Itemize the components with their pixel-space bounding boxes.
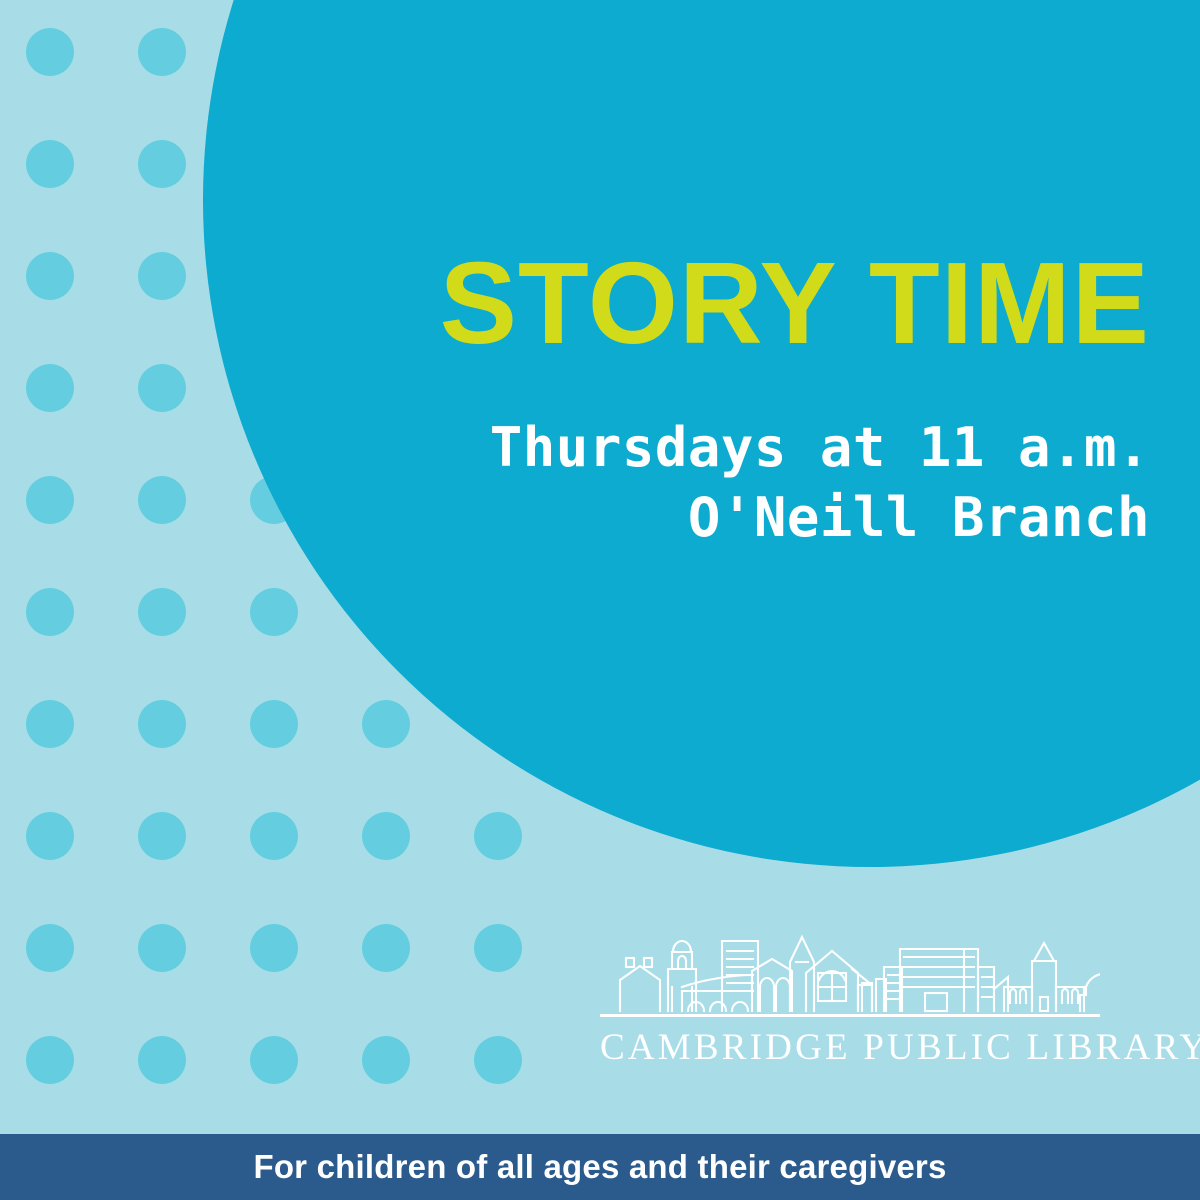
audience-banner: For children of all ages and their careg… [0,1134,1200,1200]
city-skyline-icon [600,925,1100,1013]
pattern-dot [138,924,186,972]
pattern-dot [138,812,186,860]
pattern-dot [26,700,74,748]
logo-divider-rule [600,1014,1100,1017]
pattern-dot [26,812,74,860]
poster-canvas: STORY TIME Thursdays at 11 a.m. O'Neill … [0,0,1200,1200]
pattern-dot [138,1036,186,1084]
pattern-dot [26,924,74,972]
library-logo: CAMBRIDGE PUBLIC LIBRARY [600,925,1100,1069]
pattern-dot [250,924,298,972]
pattern-dot [138,588,186,636]
event-details: Thursdays at 11 a.m. O'Neill Branch [0,413,1150,553]
pattern-dot [250,812,298,860]
pattern-dot [362,924,410,972]
pattern-dot [138,700,186,748]
event-location: O'Neill Branch [0,483,1150,553]
audience-text: For children of all ages and their careg… [253,1148,946,1186]
pattern-dot [250,1036,298,1084]
headline-block: STORY TIME Thursdays at 11 a.m. O'Neill … [0,0,1200,553]
pattern-dot [26,588,74,636]
pattern-dot [362,700,410,748]
pattern-dot [474,812,522,860]
pattern-dot [474,1036,522,1084]
pattern-dot [26,1036,74,1084]
pattern-dot [362,1036,410,1084]
pattern-dot [250,588,298,636]
logo-wordmark: CAMBRIDGE PUBLIC LIBRARY [600,1026,1100,1069]
page-title: STORY TIME [0,245,1150,361]
pattern-dot [250,700,298,748]
pattern-dot [362,812,410,860]
pattern-dot [474,924,522,972]
event-schedule: Thursdays at 11 a.m. [0,413,1150,483]
